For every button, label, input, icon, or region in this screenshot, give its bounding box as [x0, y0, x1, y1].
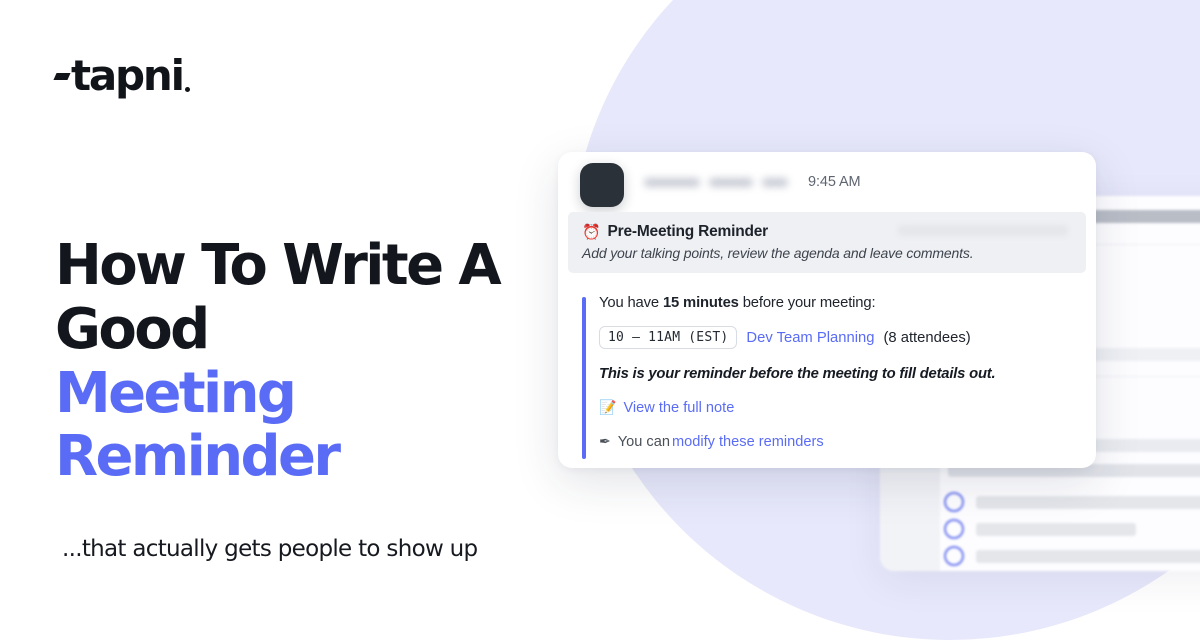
reminder-message-card: 9:45 AM ⏰ Pre-Meeting Reminder Add your …	[558, 152, 1096, 468]
memo-icon: 📝	[599, 399, 616, 416]
lead-prefix: You have	[599, 295, 663, 311]
headline-line-2: Meeting Reminder	[55, 362, 575, 490]
redacted-word	[762, 178, 788, 187]
logo-dot-icon	[185, 87, 190, 92]
modify-prefix: You can	[618, 434, 670, 450]
alarm-clock-icon: ⏰	[582, 223, 600, 241]
message-header: 9:45 AM	[558, 152, 1096, 212]
lead-suffix: before your meeting:	[739, 295, 876, 311]
meeting-detail-row: 10 – 11AM (EST) Dev Team Planning (8 att…	[599, 326, 1096, 349]
view-full-note-link[interactable]: View the full note	[623, 400, 734, 416]
page-subtitle: ...that actually gets people to show up	[62, 536, 477, 562]
lead-line: You have 15 minutes before your meeting:	[599, 295, 1096, 311]
placeholder-bar	[976, 496, 1200, 509]
message-timestamp: 9:45 AM	[808, 174, 861, 190]
checkbox-icon[interactable]	[944, 492, 964, 512]
page-title: How To Write A Good Meeting Reminder	[55, 234, 575, 489]
modify-reminders-row[interactable]: ✒ You can modify these reminders	[599, 433, 1096, 450]
view-note-row[interactable]: 📝 View the full note	[599, 399, 1096, 416]
placeholder-bar	[976, 523, 1136, 536]
reminder-quote-block: You have 15 minutes before your meeting:…	[582, 295, 1096, 450]
checkbox-icon[interactable]	[944, 546, 964, 566]
banner-subtitle: Add your talking points, review the agen…	[582, 245, 1072, 261]
tapni-logo[interactable]: tapni	[55, 58, 190, 95]
left-content-column: tapni How To Write A Good Meeting Remind…	[0, 0, 580, 630]
meeting-link[interactable]: Dev Team Planning	[746, 330, 874, 346]
pen-nib-icon: ✒	[599, 433, 611, 450]
meeting-time-chip: 10 – 11AM (EST)	[599, 326, 737, 349]
quote-accent-bar	[582, 297, 586, 459]
redacted-word	[709, 178, 753, 187]
reminder-banner: ⏰ Pre-Meeting Reminder Add your talking …	[568, 212, 1086, 273]
redacted-banner-text	[898, 225, 1068, 236]
logo-wordmark: tapni	[71, 58, 183, 95]
lead-duration: 15 minutes	[663, 295, 739, 311]
headline-line-1: How To Write A Good	[55, 234, 575, 362]
reminder-note: This is your reminder before the meeting…	[599, 366, 1096, 382]
banner-title: Pre-Meeting Reminder	[607, 223, 768, 241]
modify-reminders-link[interactable]: modify these reminders	[672, 434, 824, 450]
checkbox-icon[interactable]	[944, 519, 964, 539]
sender-name-redacted	[644, 178, 788, 187]
redacted-word	[644, 178, 700, 187]
avatar	[580, 163, 624, 207]
attendees-count: (8 attendees)	[883, 330, 970, 346]
placeholder-bar	[976, 550, 1200, 563]
tapni-tick-mark-icon	[55, 69, 70, 95]
